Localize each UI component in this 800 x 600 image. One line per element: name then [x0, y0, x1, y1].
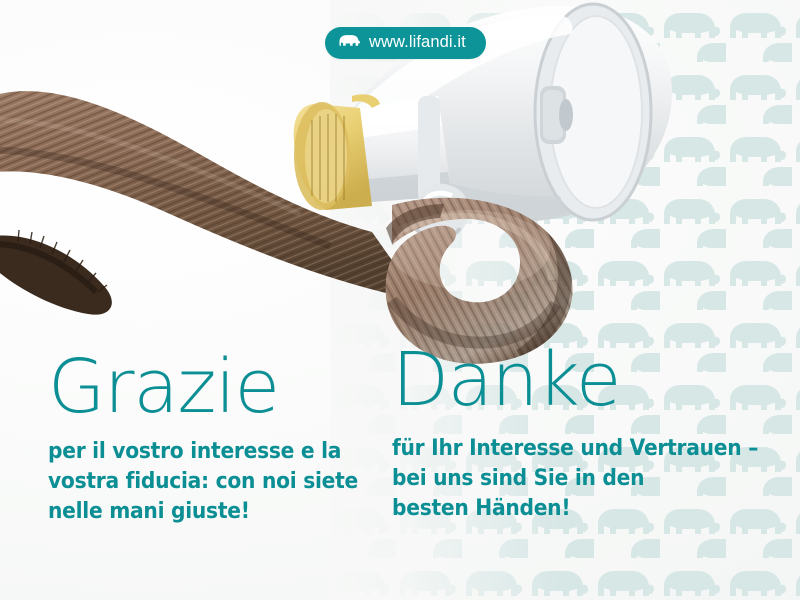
- megaphone-body: [300, 96, 452, 206]
- body-german-line-1: für Ihr Interesse und Vertrauen –: [392, 434, 725, 464]
- body-italian-line-2: vostra fiducia: con noi siete: [48, 467, 345, 497]
- poster-canvas: www.lifandi.it Grazie per il vostro inte…: [0, 0, 800, 600]
- body-german-line-3: besten Händen!: [392, 494, 725, 524]
- headline-german: Danke: [392, 345, 762, 416]
- website-badge[interactable]: www.lifandi.it: [325, 27, 486, 59]
- elephant-icon: [338, 34, 360, 53]
- body-german-line-2: bei uns sind Sie in den: [392, 464, 725, 494]
- body-italian-line-1: per il vostro interesse e la: [48, 437, 345, 467]
- yellow-mouthpiece: [294, 94, 380, 210]
- column-german: Danke für Ihr Interesse und Vertrauen – …: [392, 345, 762, 524]
- body-german: für Ihr Interesse und Vertrauen – bei un…: [392, 434, 725, 524]
- column-italian: Grazie per il vostro interesse e la vost…: [48, 352, 378, 527]
- body-italian: per il vostro interesse e la vostra fidu…: [48, 437, 345, 527]
- trunk-hair: [0, 230, 112, 315]
- body-italian-line-3: nelle mani giuste!: [48, 497, 345, 527]
- megaphone-handle: [414, 184, 469, 242]
- headline-italian: Grazie: [48, 352, 378, 423]
- website-url: www.lifandi.it: [369, 34, 466, 52]
